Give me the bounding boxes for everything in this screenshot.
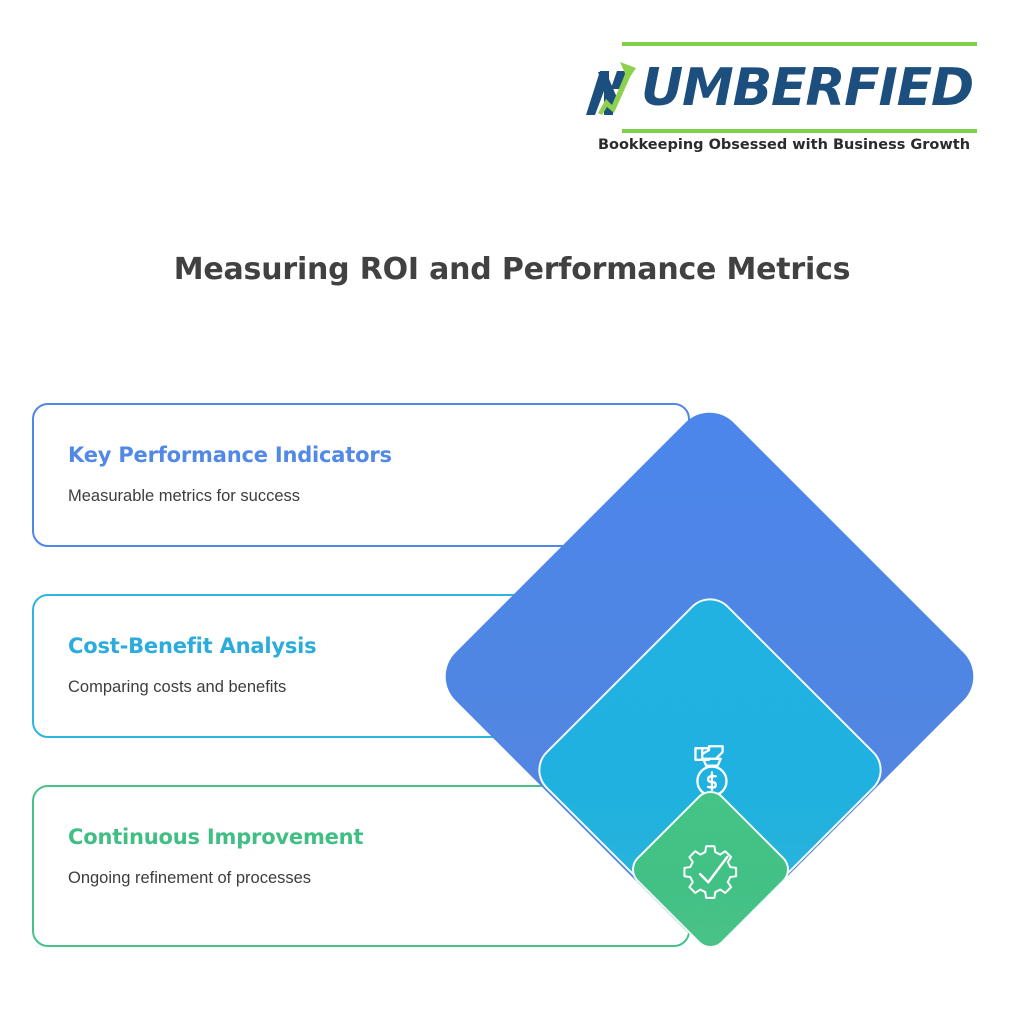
- card-subtitle: Ongoing refinement of processes: [68, 869, 311, 888]
- logo-rule-top: [622, 42, 977, 46]
- logo-wordmark-row: UMBERFIED: [584, 50, 984, 126]
- card-title: Continuous Improvement: [68, 825, 363, 849]
- logo-tagline: Bookkeeping Obsessed with Business Growt…: [584, 137, 984, 153]
- card-title: Cost-Benefit Analysis: [68, 634, 316, 658]
- logo-wordmark: UMBERFIED: [641, 62, 973, 114]
- brand-logo: UMBERFIED Bookkeeping Obsessed with Busi…: [584, 36, 984, 166]
- gear-checkmark-icon: [650, 810, 771, 931]
- logo-rule-bottom: [622, 129, 977, 133]
- card-subtitle: Comparing costs and benefits: [68, 678, 286, 697]
- infographic-canvas: UMBERFIED Bookkeeping Obsessed with Busi…: [0, 0, 1024, 1024]
- diamond-continuous-improvement[interactable]: [625, 784, 796, 955]
- card-title: Key Performance Indicators: [68, 443, 392, 467]
- page-title: Measuring ROI and Performance Metrics: [0, 252, 1024, 287]
- n-arrow-logo-icon: [584, 55, 640, 121]
- card-subtitle: Measurable metrics for success: [68, 487, 300, 506]
